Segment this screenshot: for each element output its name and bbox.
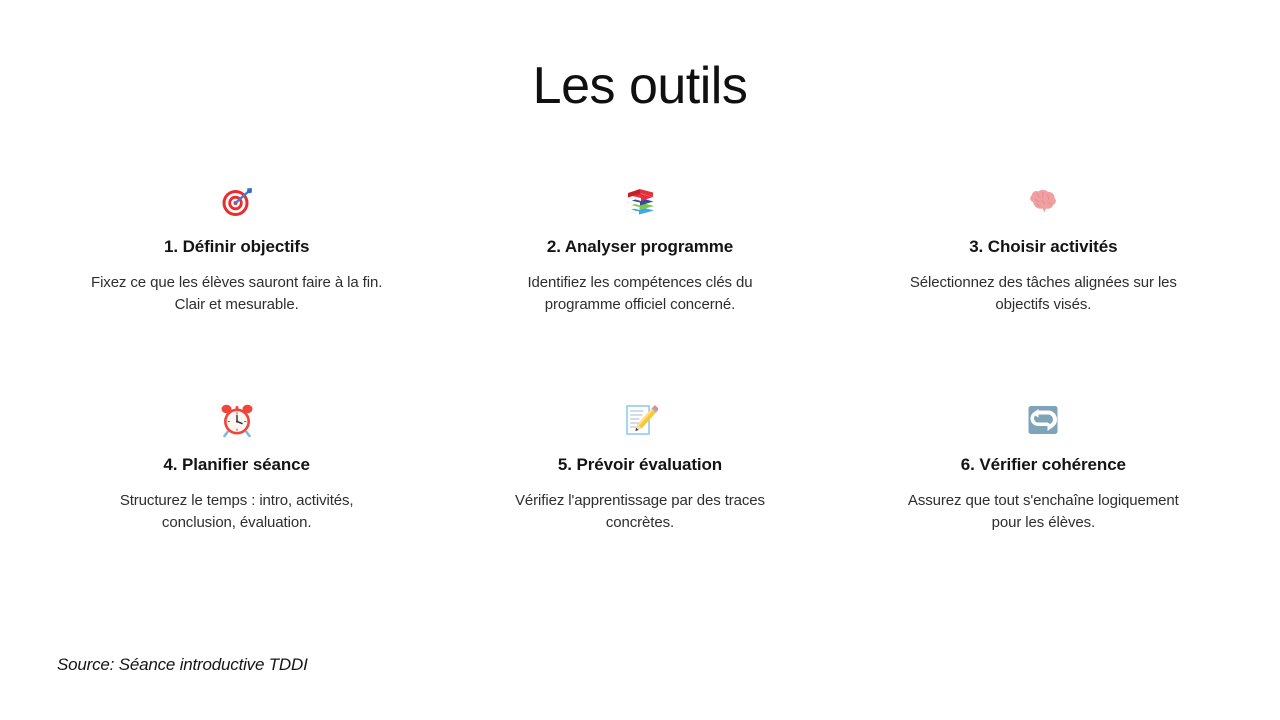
tool-title: 3. Choisir activités (969, 236, 1117, 258)
tool-card-5: 5. Prévoir évaluation Vérifiez l'apprent… (443, 400, 836, 618)
tool-title: 2. Analyser programme (547, 236, 733, 258)
tool-description: Assurez que tout s'enchaîne logiquement … (893, 490, 1193, 533)
tool-description: Vérifiez l'apprentissage par des traces … (490, 490, 790, 533)
tool-card-2: 2. Analyser programme Identifiez les com… (443, 182, 836, 400)
books-icon (620, 182, 660, 222)
cycle-arrows-icon (1023, 400, 1063, 440)
tool-description: Structurez le temps : intro, activités, … (87, 490, 387, 533)
tool-description: Identifiez les compétences clés du progr… (490, 272, 790, 315)
tool-description: Sélectionnez des tâches alignées sur les… (893, 272, 1193, 315)
tool-description: Fixez ce que les élèves sauront faire à … (87, 272, 387, 315)
memo-pencil-icon (620, 400, 660, 440)
page-title: Les outils (0, 52, 1280, 120)
alarm-clock-icon (217, 400, 257, 440)
source-note: Source: Séance introductive TDDI (57, 655, 308, 675)
tool-card-4: 4. Planifier séance Structurez le temps … (40, 400, 433, 618)
brain-icon (1023, 182, 1063, 222)
tool-card-3: 3. Choisir activités Sélectionnez des tâ… (847, 182, 1240, 400)
tool-card-1: 1. Définir objectifs Fixez ce que les él… (40, 182, 433, 400)
tool-title: 1. Définir objectifs (164, 236, 309, 258)
tools-grid: 1. Définir objectifs Fixez ce que les él… (40, 182, 1240, 618)
dart-target-icon (217, 182, 257, 222)
tool-card-6: 6. Vérifier cohérence Assurez que tout s… (847, 400, 1240, 618)
tool-title: 6. Vérifier cohérence (961, 454, 1126, 476)
slide-root: Les outils 1. Définir objectifs Fixez ce… (0, 0, 1280, 720)
tool-title: 4. Planifier séance (163, 454, 309, 476)
tool-title: 5. Prévoir évaluation (558, 454, 722, 476)
